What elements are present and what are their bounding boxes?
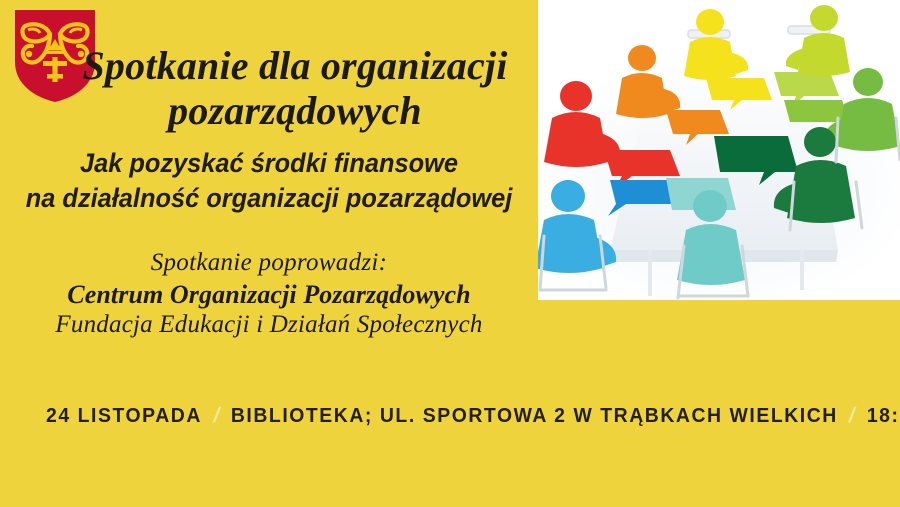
separator-slash-2: / [835, 404, 869, 428]
separator-slash-1: / [199, 404, 233, 428]
page-title: Spotkanie dla organizacji pozarządowych [0, 44, 538, 134]
event-venue: BIBLIOTEKA; UL. SPORTOWA 2 W TRĄBKACH WI… [231, 405, 838, 428]
poster-canvas: Spotkanie dla organizacji pozarządowych … [0, 0, 900, 507]
event-time: 18:00 [867, 405, 900, 428]
event-details-bar: 24 LISTOPADA / BIBLIOTEKA; UL. SPORTOWA … [46, 404, 900, 428]
presenter-lead: Spotkanie poprowadzi: [0, 248, 538, 279]
title-line-1: Spotkanie dla organizacji [82, 43, 507, 88]
presenter-organization: Centrum Organizacji Pozarządowych [0, 279, 538, 311]
meeting-illustration [538, 0, 900, 300]
subtitle-line-2: na działalność organizacji pozarządowej [16, 181, 522, 216]
event-date: 24 LISTOPADA [46, 405, 202, 428]
subtitle-line-1: Jak pozyskać środki finansowe [80, 148, 458, 178]
subtitle: Jak pozyskać środki finansowe na działal… [16, 146, 522, 216]
presenter-block: Spotkanie poprowadzi: Centrum Organizacj… [0, 248, 538, 341]
title-line-2: pozarządowych [80, 89, 510, 134]
presenter-foundation: Fundacja Edukacji i Działań Społecznych [0, 310, 538, 341]
